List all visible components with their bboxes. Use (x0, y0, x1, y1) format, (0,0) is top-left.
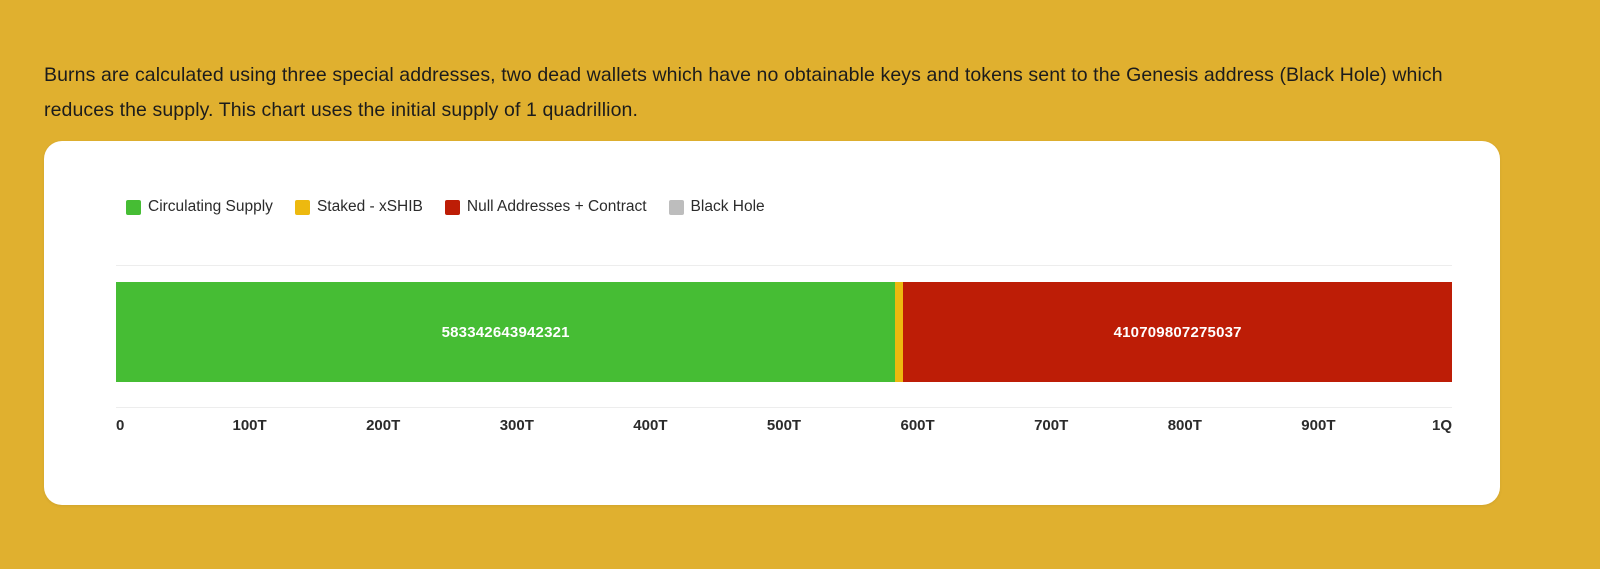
bar-segment-staked-xshib[interactable] (895, 282, 903, 382)
chart-legend: Circulating Supply Staked - xSHIB Null A… (126, 198, 787, 216)
x-axis-tick-label: 900T (1301, 417, 1335, 434)
legend-swatch-black-hole (669, 200, 684, 215)
plot-area: 583342643942321410709807275037 (116, 265, 1452, 409)
x-axis-tick-label: 500T (767, 417, 801, 434)
bar-segment-null-addresses-contract[interactable]: 410709807275037 (903, 282, 1452, 382)
x-axis-tick-label: 300T (500, 417, 534, 434)
legend-swatch-null-addresses (445, 200, 460, 215)
legend-swatch-staked-xshib (295, 200, 310, 215)
bar-segment-value-label: 410709807275037 (1114, 324, 1242, 341)
legend-label-null-addresses: Null Addresses + Contract (467, 198, 647, 216)
x-axis-tick-label: 800T (1168, 417, 1202, 434)
legend-item-circulating-supply[interactable]: Circulating Supply (126, 198, 273, 216)
legend-label-circulating-supply: Circulating Supply (148, 198, 273, 216)
legend-swatch-circulating-supply (126, 200, 141, 215)
legend-item-staked-xshib[interactable]: Staked - xSHIB (295, 198, 423, 216)
x-axis-tick-label: 100T (232, 417, 266, 434)
x-axis-tick-label: 0 (116, 417, 124, 434)
chart-card: Circulating Supply Staked - xSHIB Null A… (44, 141, 1500, 505)
legend-item-null-addresses[interactable]: Null Addresses + Contract (445, 198, 647, 216)
gridline-top (116, 265, 1452, 266)
stacked-bar: 583342643942321410709807275037 (116, 282, 1452, 382)
bar-segment-circulating-supply[interactable]: 583342643942321 (116, 282, 895, 382)
gridline-bottom (116, 407, 1452, 408)
legend-label-staked-xshib: Staked - xSHIB (317, 198, 423, 216)
page-root: Burns are calculated using three special… (0, 0, 1600, 569)
x-axis-tick-label: 200T (366, 417, 400, 434)
x-axis-tick-label: 600T (900, 417, 934, 434)
x-axis-tick-label: 400T (633, 417, 667, 434)
legend-label-black-hole: Black Hole (691, 198, 765, 216)
intro-paragraph: Burns are calculated using three special… (44, 58, 1514, 128)
x-axis: 0100T200T300T400T500T600T700T800T900T1Q (116, 417, 1452, 441)
legend-item-black-hole[interactable]: Black Hole (669, 198, 765, 216)
bar-segment-value-label: 583342643942321 (442, 324, 570, 341)
x-axis-tick-label: 1Q (1432, 417, 1452, 434)
x-axis-tick-label: 700T (1034, 417, 1068, 434)
